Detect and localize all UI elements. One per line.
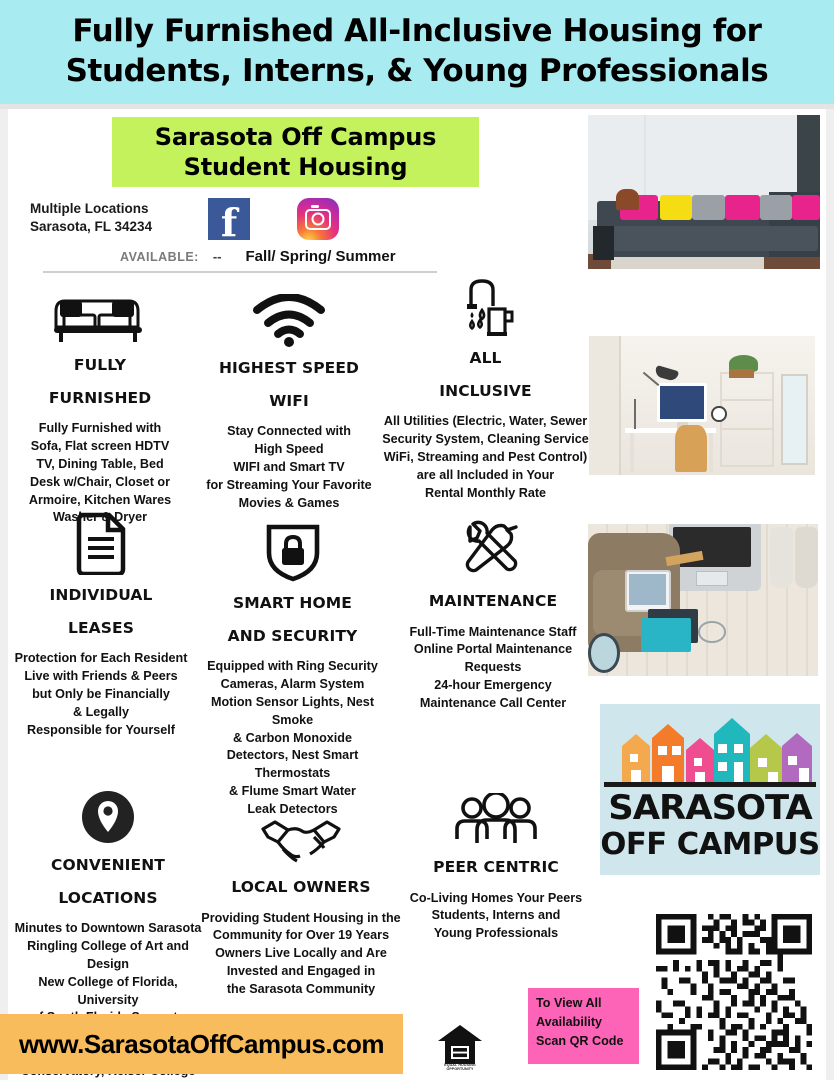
brand-title-block: Sarasota Off Campus Student Housing [112, 117, 479, 187]
feature-title-line2: INCLUSIVE [439, 380, 531, 404]
feature-title-line2: LOCATIONS [58, 887, 157, 911]
feature-peer-centric: PEER CENTRIC Co-Living Homes Your Peers … [404, 785, 588, 943]
page-left-edge [0, 109, 8, 1080]
contact-address: Multiple Locations Sarasota, FL 34234 [30, 200, 152, 237]
equal-housing-caption: EQUAL HOUSING OPPORTUNITY [430, 1063, 490, 1071]
feature-title-line2: AND SECURITY [228, 625, 358, 649]
social-links: f [208, 198, 339, 240]
qr-callout-line3: Scan QR Code [536, 1032, 639, 1051]
feature-body: Stay Connected with High Speed WIFI and … [206, 423, 371, 512]
handshake-icon [259, 805, 343, 867]
feature-title-line1: INDIVIDUAL [50, 584, 153, 608]
equal-housing-caption-line2: OPPORTUNITY [430, 1067, 490, 1071]
document-icon [72, 513, 130, 575]
feature-individual-leases: INDIVIDUAL LEASES Protection for Each Re… [12, 513, 190, 739]
feature-fully-furnished: FULLY FURNISHED Fully Furnished with Sof… [20, 283, 180, 527]
brand-line1: Sarasota Off Campus [155, 122, 437, 152]
instagram-icon[interactable] [297, 198, 339, 240]
feature-body: All Utilities (Electric, Water, Sewer Se… [382, 413, 589, 502]
qr-callout-line1: To View All [536, 994, 639, 1013]
facebook-icon[interactable]: f [208, 198, 250, 240]
people-group-icon [451, 785, 541, 847]
logo-line2: OFF CAMPUS [600, 828, 820, 861]
feature-title-line1: SMART HOME [233, 592, 352, 616]
living-room-photo [588, 115, 820, 269]
feature-smart-home-security: SMART HOME AND SECURITY Equipped with Ri… [190, 521, 395, 819]
faucet-icon [449, 276, 523, 338]
feature-title-line2: WIFI [269, 390, 309, 414]
availability-label: AVAILABLE: [120, 250, 199, 264]
shield-lock-icon [264, 521, 322, 583]
header-title-line2: Students, Interns, & Young Professionals [66, 52, 769, 92]
availability-terms: Fall/ Spring/ Summer [246, 248, 396, 265]
colored-houses-illustration [600, 716, 820, 784]
qr-code[interactable] [648, 908, 820, 1076]
availability-dash: -- [213, 249, 222, 264]
feature-title-line1: LOCAL OWNERS [231, 876, 370, 900]
tools-icon [456, 519, 530, 581]
header-divider [0, 104, 834, 109]
sarasota-off-campus-logo: SARASOTA OFF CAMPUS [600, 704, 820, 875]
logo-divider-bar [604, 782, 816, 787]
feature-title-line1: FULLY [74, 354, 126, 378]
feature-title-line1: ALL [469, 347, 501, 371]
header-banner: Fully Furnished All-Inclusive Housing fo… [0, 0, 834, 104]
feature-title-line1: MAINTENANCE [429, 590, 557, 614]
website-url-text: www.SarasotaOffCampus.com [19, 1029, 384, 1060]
feature-title-line1: PEER CENTRIC [433, 856, 559, 880]
map-pin-icon [80, 783, 136, 845]
feature-body: Equipped with Ring Security Cameras, Ala… [190, 658, 395, 819]
feature-body: Protection for Each Resident Live with F… [15, 650, 188, 739]
logo-line1: SARASOTA [600, 790, 820, 826]
feature-body: Full-Time Maintenance Staff Online Porta… [397, 624, 589, 713]
sofa-icon [50, 283, 150, 345]
feature-local-owners: LOCAL OWNERS Providing Student Housing i… [200, 805, 402, 999]
feature-title-line2: FURNISHED [49, 387, 151, 411]
brand-line2: Student Housing [184, 152, 408, 182]
website-url-bar[interactable]: www.SarasotaOffCampus.com [0, 1014, 403, 1074]
section-divider [43, 271, 437, 273]
feature-all-inclusive: ALL INCLUSIVE All Utilities (Electric, W… [378, 276, 593, 502]
desk-bedroom-photo [589, 336, 815, 475]
feature-body: Providing Student Housing in the Communi… [201, 910, 400, 999]
feature-maintenance: MAINTENANCE Full-Time Maintenance Staff … [397, 519, 589, 713]
page-right-edge [826, 109, 834, 1080]
header-title-line1: Fully Furnished All-Inclusive Housing fo… [72, 12, 761, 52]
qr-callout-box: To View All Availability Scan QR Code [528, 988, 639, 1064]
student-supplies-photo [588, 524, 818, 676]
feature-title-line2: LEASES [68, 617, 134, 641]
feature-body: Co-Living Homes Your Peers Students, Int… [410, 890, 582, 944]
address-city: Sarasota, FL 34234 [30, 218, 152, 236]
address-locations: Multiple Locations [30, 200, 152, 218]
qr-callout-line2: Availability [536, 1013, 639, 1032]
flyer-page: Fully Furnished All-Inclusive Housing fo… [0, 0, 834, 1080]
feature-title-line1: CONVENIENT [51, 854, 165, 878]
facebook-f-glyph: f [221, 204, 237, 242]
instagram-camera-glyph [305, 209, 331, 230]
feature-highest-speed-wifi: HIGHEST SPEED WIFI Stay Connected with H… [196, 286, 382, 512]
availability-row: AVAILABLE: -- Fall/ Spring/ Summer [120, 248, 396, 265]
wifi-icon [253, 286, 325, 348]
feature-title-line1: HIGHEST SPEED [219, 357, 359, 381]
